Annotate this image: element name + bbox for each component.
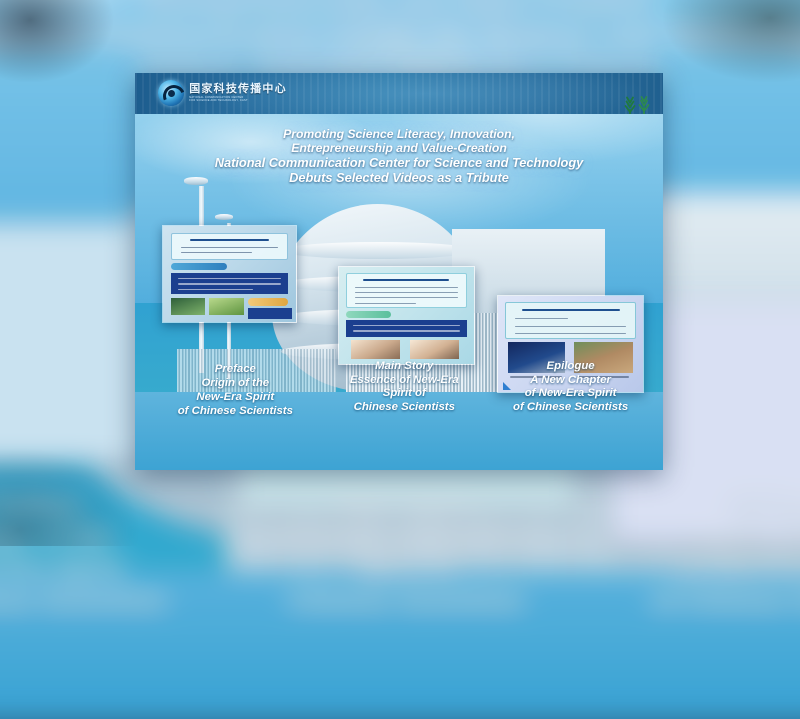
caption-line: of New-Era Spirit	[478, 387, 663, 401]
slide-heading-card	[505, 302, 636, 339]
bg-label-main: Main Story Essence of New-Era Spirit of …	[201, 488, 612, 617]
poster-header-bar: 国家科技传播中心 NATIONAL COMMUNICATION CENTER F…	[135, 73, 663, 114]
slide-text-block	[346, 320, 468, 336]
slide-photo	[351, 340, 400, 359]
slide-text-block	[248, 308, 292, 320]
title-line-1: Promoting Science Literacy, Innovation,	[135, 127, 663, 141]
caption-line: Essence of New-Era	[315, 374, 495, 388]
logo-name-cn: 国家科技传播中心	[189, 84, 287, 95]
caption-line: Epilogue	[478, 360, 663, 374]
tree-icon	[621, 91, 655, 114]
caption-preface: Preface Origin of the New-Era Spirit of …	[146, 363, 326, 419]
poster-image[interactable]: 国家科技传播中心 NATIONAL COMMUNICATION CENTER F…	[135, 73, 663, 470]
caption-line: Chinese Scientists	[315, 401, 495, 415]
bg-label-epilogue: Epilogue A New Chapter of New-Era Spirit…	[574, 488, 800, 617]
slide-heading-card	[171, 233, 288, 260]
caption-line: Spirit of	[315, 387, 495, 401]
title-line-3: National Communication Center for Scienc…	[135, 155, 663, 170]
caption-line: A New Chapter	[478, 374, 663, 388]
slide-section-chip	[171, 263, 227, 271]
slide-thumbnail-preface[interactable]	[162, 225, 297, 323]
organization-logo: 国家科技传播中心 NATIONAL COMMUNICATION CENTER F…	[158, 80, 287, 106]
caption-main-story: Main Story Essence of New-Era Spirit of …	[315, 360, 495, 416]
title-line-2: Entrepreneurship and Value-Creation	[135, 141, 663, 155]
caption-line: of Chinese Scientists	[478, 401, 663, 415]
slide-heading-card	[346, 273, 468, 308]
caption-line: Origin of the	[146, 377, 326, 391]
caption-line: Preface	[146, 363, 326, 377]
logo-name-en: NATIONAL COMMUNICATION CENTER FOR SCIENC…	[189, 97, 287, 102]
tower-disc	[215, 214, 233, 220]
slide-thumbnail-main-story[interactable]	[338, 266, 475, 365]
slide-section-chip	[346, 311, 392, 319]
slide-text-block	[171, 273, 288, 294]
poster-title: Promoting Science Literacy, Innovation, …	[135, 127, 663, 186]
caption-epilogue: Epilogue A New Chapter of New-Era Spirit…	[478, 360, 663, 416]
caption-line: New-Era Spirit	[146, 391, 326, 405]
title-line-4: Debuts Selected Videos as a Tribute	[135, 170, 663, 185]
slide-photo	[171, 298, 206, 315]
swirl-emblem-icon	[158, 80, 184, 106]
slide-section-chip	[248, 298, 288, 306]
caption-line: of Chinese Scientists	[146, 405, 326, 419]
slide-photo	[410, 340, 459, 359]
slide-photo	[209, 298, 244, 315]
caption-line: Main Story	[315, 360, 495, 374]
